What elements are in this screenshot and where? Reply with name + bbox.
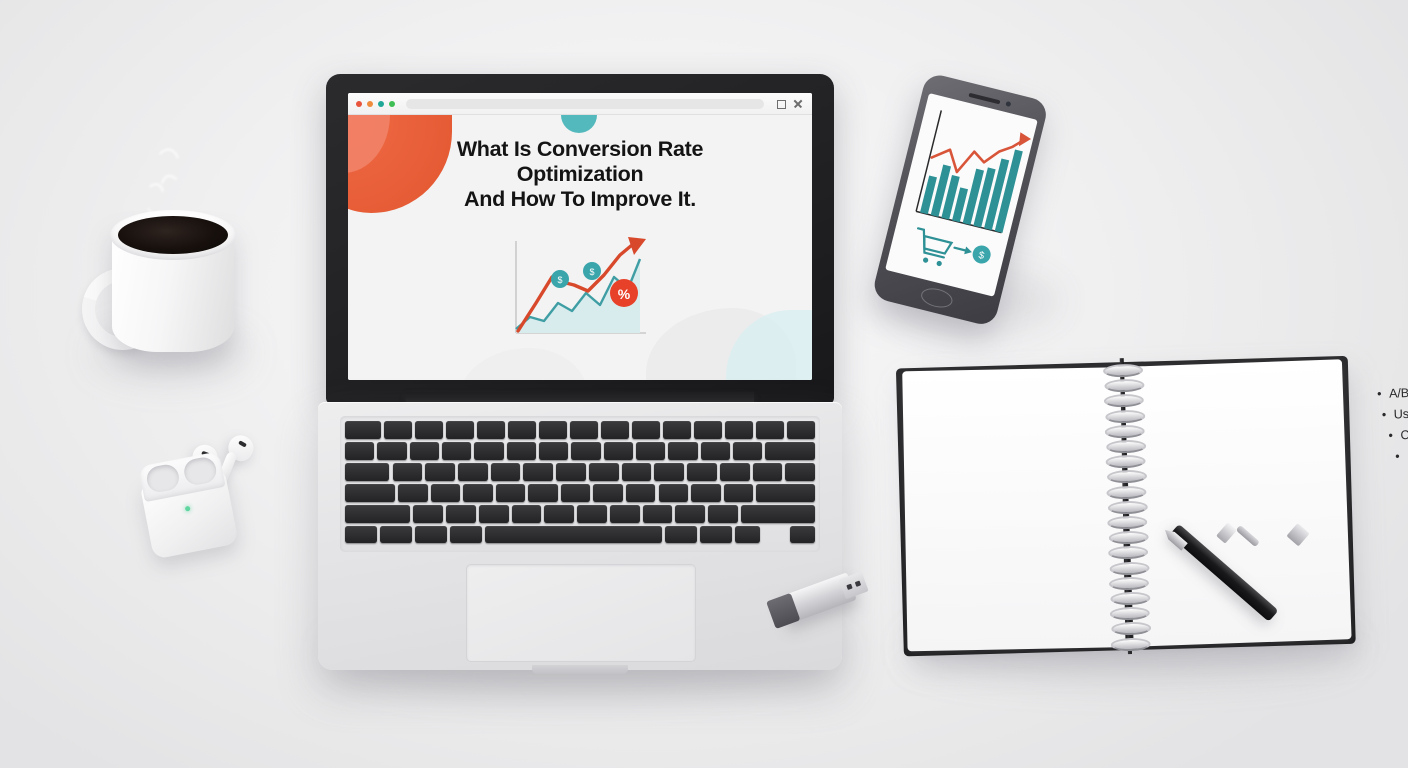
keyboard-row-qwerty [345, 463, 815, 481]
key[interactable] [610, 505, 640, 523]
key[interactable] [508, 421, 536, 439]
key[interactable] [753, 463, 783, 481]
spiral-coil [1105, 424, 1145, 438]
arrow-key-stack [763, 542, 788, 543]
dollar-badge-1-label: $ [557, 275, 562, 285]
key[interactable] [384, 421, 412, 439]
bullet-marker: • [1395, 446, 1408, 467]
spiral-coil [1111, 637, 1151, 651]
case-slot-right [182, 455, 218, 487]
key[interactable] [632, 421, 660, 439]
key-capslock[interactable] [345, 484, 395, 502]
slide-title-line-1: What Is Conversion Rate [348, 137, 812, 162]
spiral-coil [1110, 591, 1150, 605]
bullet-marker: • [1388, 425, 1401, 446]
key[interactable] [539, 442, 568, 460]
key[interactable] [442, 442, 471, 460]
key[interactable] [415, 421, 443, 439]
key[interactable] [512, 505, 542, 523]
key[interactable] [724, 484, 753, 502]
key[interactable] [787, 421, 815, 439]
key[interactable] [643, 505, 673, 523]
list-item: •A/B Testing [1377, 378, 1408, 405]
bullet-marker: • [1381, 404, 1394, 425]
key-backspace[interactable] [765, 442, 815, 460]
trend-arrow-head [1017, 132, 1032, 148]
spiral-coil [1108, 546, 1148, 560]
key[interactable] [410, 442, 439, 460]
spiral-coil [1110, 607, 1150, 621]
extra-dot[interactable] [389, 101, 395, 107]
earpiece-speaker [968, 93, 1000, 105]
keyboard-row-space [345, 526, 815, 543]
home-button[interactable] [919, 285, 954, 310]
spiral-coil [1109, 576, 1149, 590]
close-icon[interactable] [792, 98, 804, 110]
note-text: A/B Testing [1389, 384, 1408, 400]
key[interactable] [446, 505, 476, 523]
keyboard-row-zxcv [345, 505, 815, 523]
spiral-coil [1103, 364, 1143, 378]
growth-chart-graphic: $ $ % [500, 233, 660, 348]
shopping-cart-icon [910, 228, 953, 267]
spiral-coil [1107, 470, 1147, 484]
key[interactable] [463, 484, 492, 502]
case-lid [138, 451, 225, 502]
key[interactable] [725, 421, 753, 439]
key[interactable] [393, 463, 423, 481]
key-alt-right[interactable] [700, 526, 732, 543]
key[interactable] [398, 484, 427, 502]
dollar-badge-2-label: $ [589, 267, 594, 277]
phone-screen[interactable]: $ [885, 93, 1038, 297]
key[interactable] [507, 442, 536, 460]
slide-title-line-3: And How To Improve It. [348, 187, 812, 212]
key-space[interactable] [485, 526, 662, 543]
key[interactable] [701, 442, 730, 460]
presentation-slide: What Is Conversion Rate Optimization And… [348, 115, 812, 380]
note-text: Call-to-Action (CTA) [1400, 424, 1408, 442]
browser-toolbar [348, 93, 812, 115]
key-shift-right[interactable] [741, 505, 815, 523]
key[interactable] [601, 421, 629, 439]
spiral-coil [1105, 455, 1145, 469]
key[interactable] [570, 421, 598, 439]
percent-badge-label: % [618, 286, 631, 302]
slide-title-line-2: Optimization [348, 162, 812, 187]
key[interactable] [589, 463, 619, 481]
key[interactable] [604, 442, 633, 460]
ballpoint-pen [1166, 468, 1316, 624]
spiral-coil [1104, 394, 1144, 408]
key[interactable] [577, 505, 607, 523]
spiral-coil [1106, 440, 1146, 454]
key-enter[interactable] [756, 484, 815, 502]
key[interactable] [523, 463, 553, 481]
key[interactable] [654, 463, 684, 481]
spiral-coil [1109, 531, 1149, 545]
laptop-lid: What Is Conversion Rate Optimization And… [326, 74, 834, 404]
arrow-head [964, 247, 973, 256]
spiral-coil [1109, 561, 1149, 575]
key[interactable] [691, 484, 720, 502]
arrow-shaft [954, 248, 966, 251]
phone-body: $ [871, 72, 1049, 328]
key-shift-left[interactable] [345, 505, 410, 523]
key[interactable] [622, 463, 652, 481]
notes-list: •A/B Testing •User Experience (UX) •Call… [1377, 378, 1408, 468]
key[interactable] [425, 463, 455, 481]
key[interactable] [626, 484, 655, 502]
slide-title: What Is Conversion Rate Optimization And… [348, 137, 812, 212]
spiral-coil [1104, 379, 1144, 393]
zoom-dot[interactable] [378, 101, 384, 107]
keyboard-row-function [345, 421, 815, 439]
key[interactable] [708, 505, 738, 523]
key-cmd-right[interactable] [665, 526, 697, 543]
key[interactable] [733, 442, 762, 460]
key[interactable] [687, 463, 717, 481]
key[interactable] [491, 463, 521, 481]
key[interactable] [556, 463, 586, 481]
address-bar[interactable] [406, 99, 764, 109]
earbuds-charging-case [139, 467, 238, 560]
wireless-earbuds [146, 428, 296, 564]
key-alt[interactable] [415, 526, 447, 543]
pen-clip [1236, 525, 1260, 547]
laptop-screen: What Is Conversion Rate Optimization And… [348, 93, 812, 380]
key-ctrl[interactable] [380, 526, 412, 543]
key[interactable] [659, 484, 688, 502]
key[interactable] [345, 442, 374, 460]
phone-sales-chart: $ [885, 93, 1038, 297]
bullet-marker: • [1377, 384, 1390, 405]
key[interactable] [571, 442, 600, 460]
close-dot[interactable] [356, 101, 362, 107]
key-cmd-left[interactable] [450, 526, 482, 543]
spiral-coil [1108, 500, 1148, 514]
coffee-mug [84, 196, 252, 366]
key-tab[interactable] [345, 463, 389, 481]
key[interactable] [694, 421, 722, 439]
desk-scene: What Is Conversion Rate Optimization And… [0, 0, 1408, 768]
teal-semicircle-decoration [561, 115, 597, 133]
coffee-liquid [118, 216, 228, 254]
usb-contact-hole [846, 584, 852, 590]
key[interactable] [663, 421, 691, 439]
notebook-page-left [902, 367, 1125, 651]
laptop-base [318, 402, 842, 670]
key[interactable] [675, 505, 705, 523]
key[interactable] [593, 484, 622, 502]
key-fn[interactable] [345, 526, 377, 543]
keyboard-row-asdf [345, 484, 815, 502]
key[interactable] [496, 484, 525, 502]
keyboard[interactable] [340, 416, 820, 552]
key[interactable] [668, 442, 697, 460]
key[interactable] [756, 421, 784, 439]
keyboard-row-numbers [345, 442, 815, 460]
key[interactable] [345, 421, 381, 439]
pen-end-cap [1286, 523, 1309, 546]
key[interactable] [377, 442, 406, 460]
key[interactable] [479, 505, 509, 523]
key[interactable] [474, 442, 503, 460]
key[interactable] [636, 442, 665, 460]
note-text: User Experience (UX) [1394, 403, 1408, 421]
key[interactable] [785, 463, 815, 481]
key[interactable] [431, 484, 460, 502]
maximize-icon[interactable] [775, 98, 787, 110]
case-slot-left [145, 463, 181, 495]
key-arrow-left[interactable] [735, 526, 760, 543]
key[interactable] [446, 421, 474, 439]
spiral-coil [1105, 409, 1145, 423]
charging-led-indicator [185, 506, 191, 512]
key[interactable] [413, 505, 443, 523]
spiral-coil [1111, 622, 1151, 636]
minimize-dot[interactable] [367, 101, 373, 107]
laptop: What Is Conversion Rate Optimization And… [318, 74, 842, 694]
pen-center-band [1216, 522, 1237, 543]
usb-contact-hole [855, 581, 861, 587]
gray-wave-decoration-left [458, 348, 588, 380]
spiral-binding [1096, 357, 1156, 654]
key[interactable] [544, 505, 574, 523]
key[interactable] [720, 463, 750, 481]
key[interactable] [458, 463, 488, 481]
key[interactable] [477, 421, 505, 439]
key[interactable] [539, 421, 567, 439]
key[interactable] [528, 484, 557, 502]
spiral-coil [1106, 485, 1146, 499]
trackpad[interactable] [466, 564, 696, 662]
key-arrow-right[interactable] [790, 526, 815, 543]
front-camera-icon [1005, 101, 1011, 107]
spiral-coil [1107, 516, 1147, 530]
key[interactable] [561, 484, 590, 502]
